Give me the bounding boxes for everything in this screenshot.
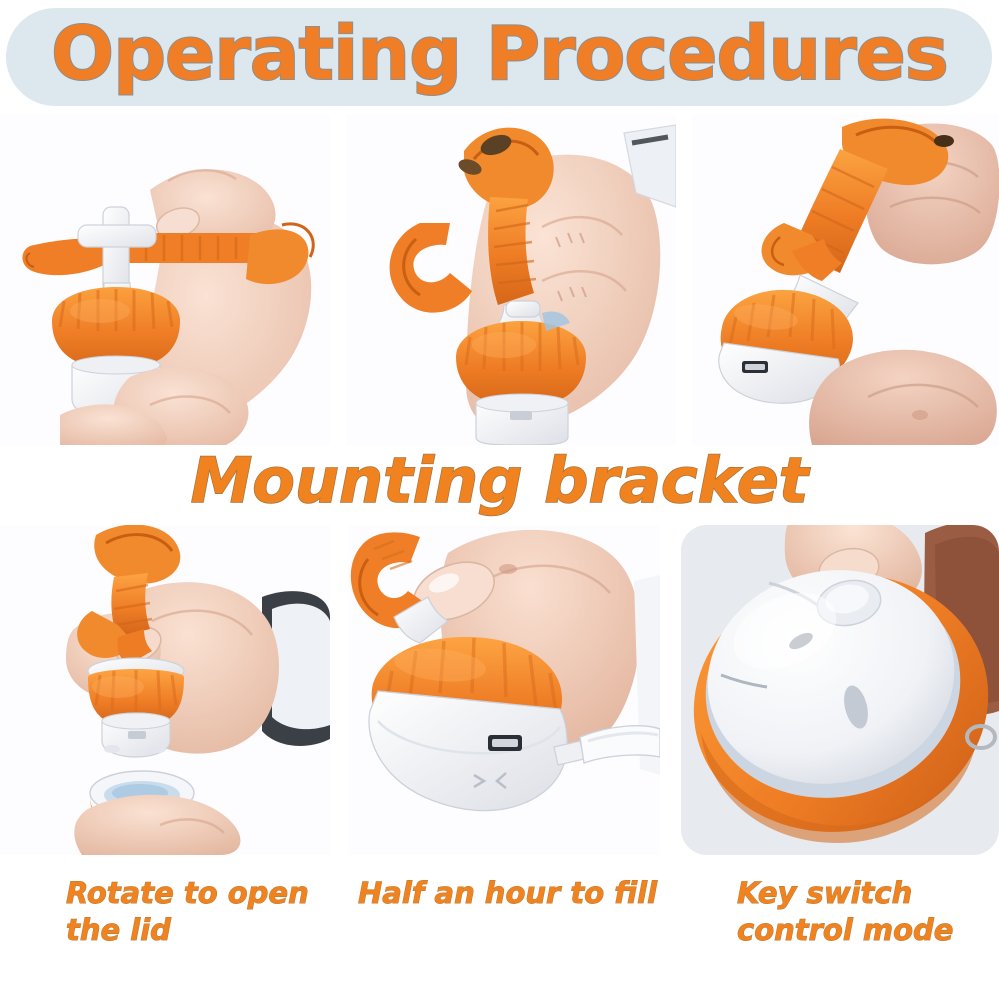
- caption-key-switch-line1: Key switch: [737, 875, 987, 912]
- step-photo-2: [346, 115, 676, 445]
- step-photo-3: [692, 115, 999, 445]
- step-photo-4-image: [0, 525, 330, 855]
- step-photo-1: [0, 115, 330, 445]
- step-photo-6-image: [681, 525, 999, 855]
- step-photo-1-image: [0, 115, 330, 445]
- step-photo-4: [0, 525, 330, 855]
- caption-key-switch: Key switch control mode: [737, 875, 987, 949]
- page-title: Operating Procedures: [0, 0, 999, 108]
- steps-row-bottom: [0, 525, 999, 855]
- section-title-mounting-bracket: Mounting bracket: [0, 440, 999, 520]
- step-photo-6: [681, 525, 999, 855]
- infographic-page: Operating Procedures: [0, 0, 999, 988]
- step-photo-2-image: [346, 115, 676, 445]
- caption-key-switch-line2: control mode: [737, 912, 987, 949]
- captions-row: Rotate to open the lid Half an hour to f…: [0, 875, 999, 985]
- step-photo-3-image: [692, 115, 999, 445]
- caption-half-hour-line1: Half an hour to fill: [358, 875, 658, 912]
- caption-rotate-lid-line2: the lid: [66, 912, 336, 949]
- step-photo-5: [348, 525, 660, 855]
- step-photo-5-image: [348, 525, 660, 855]
- caption-rotate-lid: Rotate to open the lid: [66, 875, 336, 949]
- caption-half-hour: Half an hour to fill: [358, 875, 658, 912]
- caption-rotate-lid-line1: Rotate to open: [66, 875, 336, 912]
- steps-row-top: [0, 115, 999, 445]
